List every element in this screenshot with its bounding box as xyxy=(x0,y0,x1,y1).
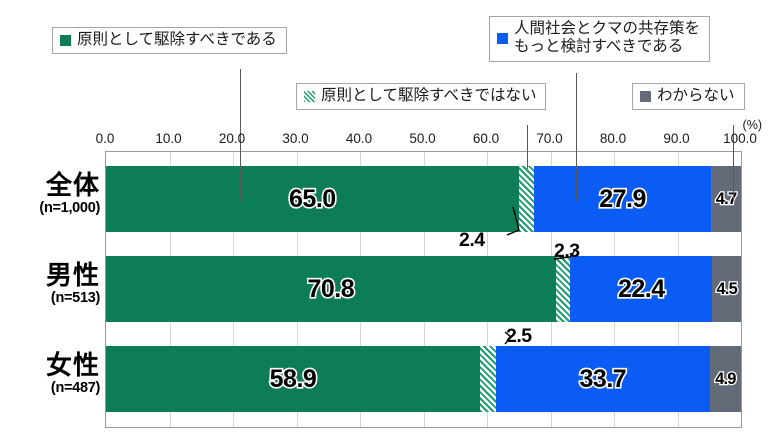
x-axis-tick-label: 0.0 xyxy=(96,131,115,146)
category-name: 女性 xyxy=(0,352,100,379)
legend-label: わからない xyxy=(657,87,735,105)
green-square-icon xyxy=(60,35,71,46)
legend-label: 原則として駆除すべきである xyxy=(77,31,277,49)
bar-value-label: 65.0 xyxy=(289,185,336,214)
bar-segment[interactable]: 4.5 xyxy=(712,256,741,322)
blue-square-icon xyxy=(497,33,508,44)
bar-value-label: 4.9 xyxy=(715,370,736,389)
x-axis-tick-label: 20.0 xyxy=(219,131,245,146)
plot-area: 65.027.94.770.822.44.558.933.74.9 xyxy=(105,151,742,428)
callout-label-1: 2.3 xyxy=(554,240,580,263)
category-count: (n=513) xyxy=(0,289,100,308)
bar-segment[interactable]: 4.7 xyxy=(711,166,741,232)
x-axis-tick-label: 90.0 xyxy=(663,131,689,146)
legend-item-exterminate[interactable]: 原則として駆除すべきである xyxy=(52,27,287,54)
x-axis-tick-label: 40.0 xyxy=(346,131,372,146)
x-axis-tick-label: 100.0 xyxy=(723,131,757,146)
category-label-2: 女性 (n=487) xyxy=(0,352,100,398)
legend-item-coexistence[interactable]: 人間社会とクマの共存策を もっと検討すべきである xyxy=(489,16,710,62)
bar-segment[interactable]: 33.7 xyxy=(496,346,710,412)
bar-row: 70.822.44.5 xyxy=(106,256,741,322)
bar-row: 58.933.74.9 xyxy=(106,346,741,412)
gray-square-icon xyxy=(640,91,651,102)
bar-segment[interactable] xyxy=(556,256,571,322)
stacked-bar-chart: 原則として駆除すべきである 原則として駆除すべきではない 人間社会とクマの共存策… xyxy=(0,0,768,441)
bar-row: 65.027.94.7 xyxy=(106,166,741,232)
bar-segment[interactable]: 27.9 xyxy=(534,166,711,232)
axis-unit-label: (%) xyxy=(743,118,762,132)
hatched-green-square-icon xyxy=(304,91,315,102)
category-label-1: 男性 (n=513) xyxy=(0,262,100,308)
x-axis-tick-label: 60.0 xyxy=(473,131,499,146)
bar-segment[interactable]: 4.9 xyxy=(710,346,741,412)
x-axis-tick-label: 80.0 xyxy=(600,131,626,146)
x-axis-tick-label: 50.0 xyxy=(409,131,435,146)
legend-label-line-1: 人間社会とクマの共存策を xyxy=(514,20,700,38)
category-count: (n=1,000) xyxy=(0,199,100,218)
bar-value-label: 70.8 xyxy=(307,275,354,304)
bar-segment[interactable] xyxy=(480,346,496,412)
category-name: 男性 xyxy=(0,262,100,289)
bar-segment[interactable]: 22.4 xyxy=(570,256,712,322)
x-axis-tick-labels: 0.010.020.030.040.050.060.070.080.090.01… xyxy=(105,131,742,149)
bar-value-label: 27.9 xyxy=(599,185,646,214)
callout-label-0: 2.4 xyxy=(459,229,485,252)
bar-value-label: 33.7 xyxy=(580,365,627,394)
bar-segment[interactable] xyxy=(519,166,534,232)
x-axis-tick-label: 10.0 xyxy=(155,131,181,146)
bar-segment[interactable]: 65.0 xyxy=(106,166,519,232)
category-label-0: 全体 (n=1,000) xyxy=(0,172,100,218)
legend-label-line-2: もっと検討すべきである xyxy=(514,38,700,56)
bar-value-label: 22.4 xyxy=(618,275,665,304)
x-axis-tick-label: 30.0 xyxy=(282,131,308,146)
legend-label-wrapper: 人間社会とクマの共存策を もっと検討すべきである xyxy=(514,20,700,57)
legend-item-not-exterminate[interactable]: 原則として駆除すべきではない xyxy=(296,83,546,110)
bar-segment[interactable]: 58.9 xyxy=(106,346,480,412)
legend-label: 原則として駆除すべきではない xyxy=(321,87,536,105)
legend-item-dont-know[interactable]: わからない xyxy=(632,83,745,110)
callout-label-2: 2.5 xyxy=(506,325,532,348)
x-axis-tick-label: 70.0 xyxy=(536,131,562,146)
category-count: (n=487) xyxy=(0,379,100,398)
category-name: 全体 xyxy=(0,172,100,199)
bar-value-label: 4.5 xyxy=(716,280,737,299)
bar-value-label: 58.9 xyxy=(270,365,317,394)
bar-segment[interactable]: 70.8 xyxy=(106,256,556,322)
